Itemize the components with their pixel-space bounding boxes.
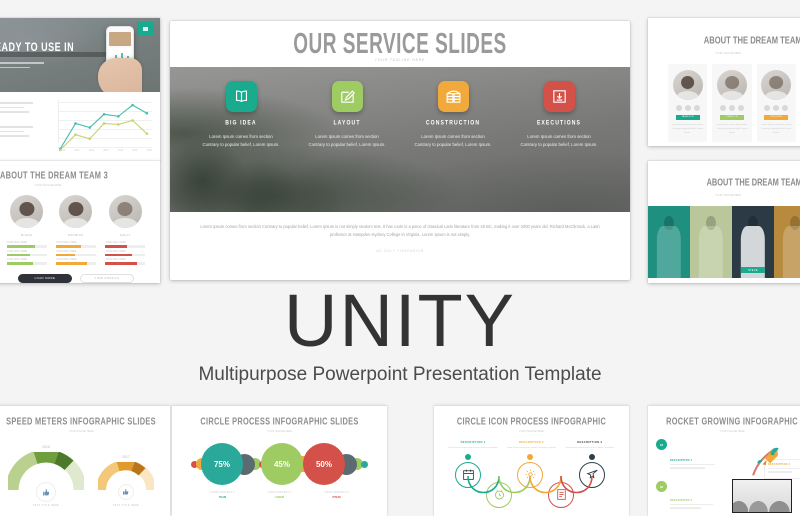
rocket-header: ROCKET GROWING INFOGRAPHIC YOUR TAGLINE …	[648, 406, 800, 433]
circle-header: CIRCLE PROCESS INFOGRAPHIC SLIDES YOUR T…	[172, 406, 387, 433]
social-icons[interactable]	[761, 105, 792, 111]
skill-bars: YOUR SKILL HERE YOUR SKILL HERE YOUR SKI…	[105, 242, 145, 265]
step-body: Lorem Ipsum comes from section Contrary …	[447, 447, 499, 451]
skill-label: YOUR SKILL HERE	[56, 259, 96, 261]
team5-title: ABOUT THE DREAM TEAM 5	[707, 176, 800, 188]
service-body: Lorem Ipsum comes from section Contrary …	[414, 133, 492, 149]
ready-text-lines	[0, 62, 44, 71]
step-heading: DESCRIPTION 2	[670, 499, 718, 502]
team-photo-tile[interactable]	[690, 206, 732, 278]
member-name-tag: CAMILLE	[720, 115, 744, 120]
skill-label: YOUR SKILL HERE	[7, 251, 47, 253]
step-card: DESCRIPTION 2	[670, 499, 718, 511]
speed-subtitle: YOUR TAGLINE HERE	[0, 430, 170, 433]
social-icons[interactable]	[672, 105, 703, 111]
thumb-up-icon	[122, 488, 130, 496]
social-icons[interactable]	[716, 105, 747, 111]
view-profile-button[interactable]: VIEW PROFILE	[80, 274, 134, 283]
avatar	[717, 70, 747, 100]
ready-line-chart: 2010 2011 2012 2013 2014 2015 2016	[50, 100, 152, 151]
cicon-step[interactable]: DESCRIPTION 3 Lorem Ipsum comes from sec…	[564, 441, 616, 451]
skill-track	[7, 245, 47, 248]
step-body: Lorem Ipsum comes from section Contrary …	[505, 447, 557, 451]
thumb-up-icon	[42, 488, 51, 497]
rocket-title: ROCKET GROWING INFOGRAPHIC	[648, 415, 800, 427]
team5-subtitle: YOUR TAGLINE HERE	[648, 194, 800, 197]
gauge-group: 2016 TEXT TITLE HERE	[0, 445, 170, 507]
skill-track	[7, 254, 47, 257]
skill-label: YOUR SKILL HERE	[7, 242, 47, 244]
step-card: DESCRIPTION 1	[670, 459, 718, 471]
member-name: DIANA	[7, 233, 47, 237]
step-heading: DESCRIPTION 3	[564, 441, 616, 444]
member-name: SALLY	[105, 233, 145, 237]
member-bio: Lorem Ipsum comes from section Contrary …	[716, 124, 747, 136]
load-more-button[interactable]: LOAD MORE	[18, 274, 72, 283]
skill-label: YOUR SKILL HERE	[105, 259, 145, 261]
rocket-subtitle: YOUR TAGLINE HERE	[648, 430, 800, 433]
step-body: Lorem Ipsum comes from section Contrary …	[564, 447, 616, 451]
skill-track	[105, 245, 145, 248]
circle-title: CIRCLE PROCESS INFOGRAPHIC SLIDES	[172, 415, 387, 427]
step-badge: 01	[656, 439, 667, 450]
member-name-tag: GEORGE	[764, 115, 788, 120]
cicon-subtitle: YOUR TAGLINE HERE	[434, 430, 629, 433]
ready-side-text	[0, 92, 48, 161]
cicon-descriptions: DESCRIPTION 1 Lorem Ipsum comes from sec…	[434, 441, 629, 451]
service-label: EXECUTIONS	[537, 119, 581, 127]
circle-caption: YOUR CONTENT 1 TEAM	[210, 492, 234, 499]
step-body	[670, 504, 718, 509]
team-member-card[interactable]: JAMESON Lorem Ipsum comes from section C…	[668, 64, 707, 142]
gauge-hub	[119, 485, 133, 499]
step-heading: DESCRIPTION 1	[447, 441, 499, 444]
slide-dream-team-3[interactable]: ABOUT THE DREAM TEAM 3 YOUR TAGLINE HERE…	[0, 161, 160, 283]
hero-title: OUR SERVICE SLIDES	[170, 29, 630, 62]
hero-forest-photo: BIG IDEA Lorem Ipsum comes from section …	[170, 67, 630, 212]
circle-chain: 75% 45% 50%	[172, 443, 387, 485]
member-name-tag: STEVE	[741, 267, 765, 273]
rocket-step[interactable]: 02	[656, 481, 667, 492]
team-member[interactable]: SALLY YOUR SKILL HERE YOUR SKILL HERE YO…	[105, 195, 145, 268]
skill-label: YOUR SKILL HERE	[56, 242, 96, 244]
step-body	[670, 464, 718, 469]
service-item-big-idea[interactable]: BIG IDEA Lorem Ipsum comes from section …	[188, 81, 294, 212]
download-icon	[544, 81, 575, 112]
slide-ready-to-use[interactable]: READY TO USE IN	[0, 18, 160, 161]
skill-bars: YOUR SKILL HERE YOUR SKILL HERE YOUR SKI…	[56, 242, 96, 265]
speed-header: SPEED METERS INFOGRAPHIC SLIDES YOUR TAG…	[0, 406, 170, 433]
service-row: BIG IDEA Lorem Ipsum comes from section …	[170, 67, 630, 212]
brand-block: UNITY Multipurpose Powerpoint Presentati…	[0, 286, 800, 398]
team-member-card[interactable]: CAMILLE Lorem Ipsum comes from section C…	[712, 64, 751, 142]
team-member-card[interactable]: GEORGE Lorem Ipsum comes from section Co…	[757, 64, 796, 142]
circle-captions: YOUR CONTENT 1 TEAM YOUR CONTENT 2 LOREM…	[172, 492, 387, 499]
skill-track	[56, 245, 96, 248]
cicon-step[interactable]: DESCRIPTION 2 Lorem Ipsum comes from sec…	[505, 441, 557, 451]
team-member[interactable]: PATRICK YOUR SKILL HERE YOUR SKILL HERE …	[56, 195, 96, 268]
member-bio: Lorem Ipsum comes from section Contrary …	[761, 124, 792, 136]
gauge-year: 2017	[98, 455, 154, 459]
service-label: BIG IDEA	[225, 119, 256, 127]
step-badge: 02	[656, 481, 667, 492]
rocket-step[interactable]: 01	[656, 439, 667, 450]
service-body: Lorem Ipsum comes from section Contrary …	[202, 133, 280, 149]
avatar	[673, 70, 703, 100]
member-name: PATRICK	[56, 233, 96, 237]
slide-dream-team-1[interactable]: ABOUT THE DREAM TEAM 1 YOUR TAGLINE HERE…	[648, 18, 800, 146]
arc-connectors	[434, 454, 629, 502]
ready-hero-photo: READY TO USE IN	[0, 18, 160, 92]
book-icon	[226, 81, 257, 112]
team1-header: ABOUT THE DREAM TEAM 1 YOUR TAGLINE HERE	[648, 18, 800, 55]
step-heading: DESCRIPTION 1	[670, 459, 718, 462]
speed-title: SPEED METERS INFOGRAPHIC SLIDES	[0, 415, 170, 427]
hero-paragraph: Lorem Ipsum comes from section Contrary …	[170, 212, 630, 240]
skill-track	[105, 262, 145, 265]
hero-header: OUR SERVICE SLIDES YOUR TAGLINE HERE	[170, 21, 630, 67]
brand-name: UNITY	[0, 286, 800, 356]
service-label: LAYOUT	[333, 119, 360, 127]
gauge-2016[interactable]: 2016 TEXT TITLE HERE	[8, 445, 84, 507]
step-heading: DESCRIPTION 2	[505, 441, 557, 444]
cicon-step[interactable]: DESCRIPTION 1 Lorem Ipsum comes from sec…	[447, 441, 499, 451]
skill-track	[56, 254, 96, 257]
skill-label: YOUR SKILL HERE	[56, 251, 96, 253]
poster-canvas: READY TO USE IN	[0, 0, 800, 500]
service-item-executions[interactable]: EXECUTIONS Lorem Ipsum comes from sectio…	[506, 81, 612, 212]
gauge-hub	[37, 483, 55, 501]
team-member[interactable]: DIANA YOUR SKILL HERE YOUR SKILL HERE YO…	[7, 195, 47, 268]
drawer-icon	[438, 81, 469, 112]
rocket-icon	[748, 443, 782, 477]
line-series	[50, 100, 152, 153]
avatar	[59, 195, 92, 228]
circle-bubble-2[interactable]: 45%	[261, 443, 303, 485]
hero-footer: AD ONLY COMPANION	[170, 249, 630, 253]
circle-caption: YOUR CONTENT 3 IPSUM	[324, 492, 348, 499]
x-axis-ticks: 2010 2011 2012 2013 2014 2015 2016	[60, 149, 152, 152]
cicon-title: CIRCLE ICON PROCESS INFOGRAPHIC	[434, 415, 629, 427]
service-item-construction[interactable]: CONSTRUCTION Lorem Ipsum comes from sect…	[400, 81, 506, 212]
avatar	[10, 195, 43, 228]
avatar	[109, 195, 142, 228]
service-body: Lorem Ipsum comes from section Contrary …	[308, 133, 386, 149]
ready-chart-panel: 2010 2011 2012 2013 2014 2015 2016	[0, 92, 160, 161]
ready-title: READY TO USE IN	[0, 40, 74, 54]
skill-track	[56, 262, 96, 265]
team3-title: ABOUT THE DREAM TEAM 3	[0, 169, 160, 181]
skill-label: YOUR SKILL HERE	[105, 251, 145, 253]
pencil-icon	[332, 81, 363, 112]
team5-photo-strip: STEVE	[648, 206, 800, 278]
cicon-header: CIRCLE ICON PROCESS INFOGRAPHIC YOUR TAG…	[434, 406, 629, 433]
team3-actions: LOAD MORE VIEW PROFILE	[0, 274, 160, 283]
member-name-tag: JAMESON	[676, 115, 700, 120]
gauge-2017[interactable]: 2017 TEXT TITLE HERE	[98, 455, 154, 507]
slide-our-service[interactable]: OUR SERVICE SLIDES YOUR TAGLINE HERE BIG…	[170, 21, 630, 280]
chain-dot	[361, 461, 368, 468]
rocket-photo	[732, 479, 792, 513]
gauge-dial	[98, 462, 154, 492]
skill-label: YOUR SKILL HERE	[105, 242, 145, 244]
team1-title: ABOUT THE DREAM TEAM 1	[704, 34, 800, 46]
avatar	[761, 70, 791, 100]
gauge-year: 2016	[8, 445, 84, 449]
service-item-layout[interactable]: LAYOUT Lorem Ipsum comes from section Co…	[294, 81, 400, 212]
gauge-caption: TEXT TITLE HERE	[8, 504, 84, 507]
cicon-arc-group	[434, 454, 629, 502]
circle-caption: YOUR CONTENT 2 LOREM	[267, 492, 291, 499]
skill-label: YOUR SKILL HERE	[7, 259, 47, 261]
team3-members: DIANA YOUR SKILL HERE YOUR SKILL HERE YO…	[0, 187, 160, 268]
team1-cards: JAMESON Lorem Ipsum comes from section C…	[648, 55, 800, 142]
gauge-dial	[8, 452, 84, 492]
team-photo-tile[interactable]: STEVE	[732, 206, 774, 278]
team3-header: ABOUT THE DREAM TEAM 3 YOUR TAGLINE HERE	[0, 161, 160, 187]
skill-track	[7, 262, 47, 265]
service-body: Lorem Ipsum comes from section Contrary …	[520, 133, 598, 149]
skill-track	[105, 254, 145, 257]
circle-subtitle: YOUR TAGLINE HERE	[172, 430, 387, 433]
skill-bars: YOUR SKILL HERE YOUR SKILL HERE YOUR SKI…	[7, 242, 47, 265]
slide-dream-team-5[interactable]: ABOUT THE DREAM TEAM 5 YOUR TAGLINE HERE…	[648, 161, 800, 283]
accent-square	[137, 22, 154, 35]
member-bio: Lorem Ipsum comes from section Contrary …	[672, 124, 703, 136]
team5-header: ABOUT THE DREAM TEAM 5 YOUR TAGLINE HERE	[648, 161, 800, 197]
team-photo-tile[interactable]	[648, 206, 690, 278]
team-photo-tile[interactable]	[774, 206, 800, 278]
rocket-step[interactable]: DESCRIPTION 1	[670, 459, 718, 471]
circle-bubble-3[interactable]: 50%	[303, 443, 345, 485]
rocket-step[interactable]: DESCRIPTION 2	[670, 499, 718, 511]
service-label: CONSTRUCTION	[426, 119, 480, 127]
circle-bubble-1[interactable]: 75%	[201, 443, 243, 485]
gauge-caption: TEXT TITLE HERE	[98, 504, 154, 507]
brand-tagline: Multipurpose Powerpoint Presentation Tem…	[0, 364, 800, 386]
